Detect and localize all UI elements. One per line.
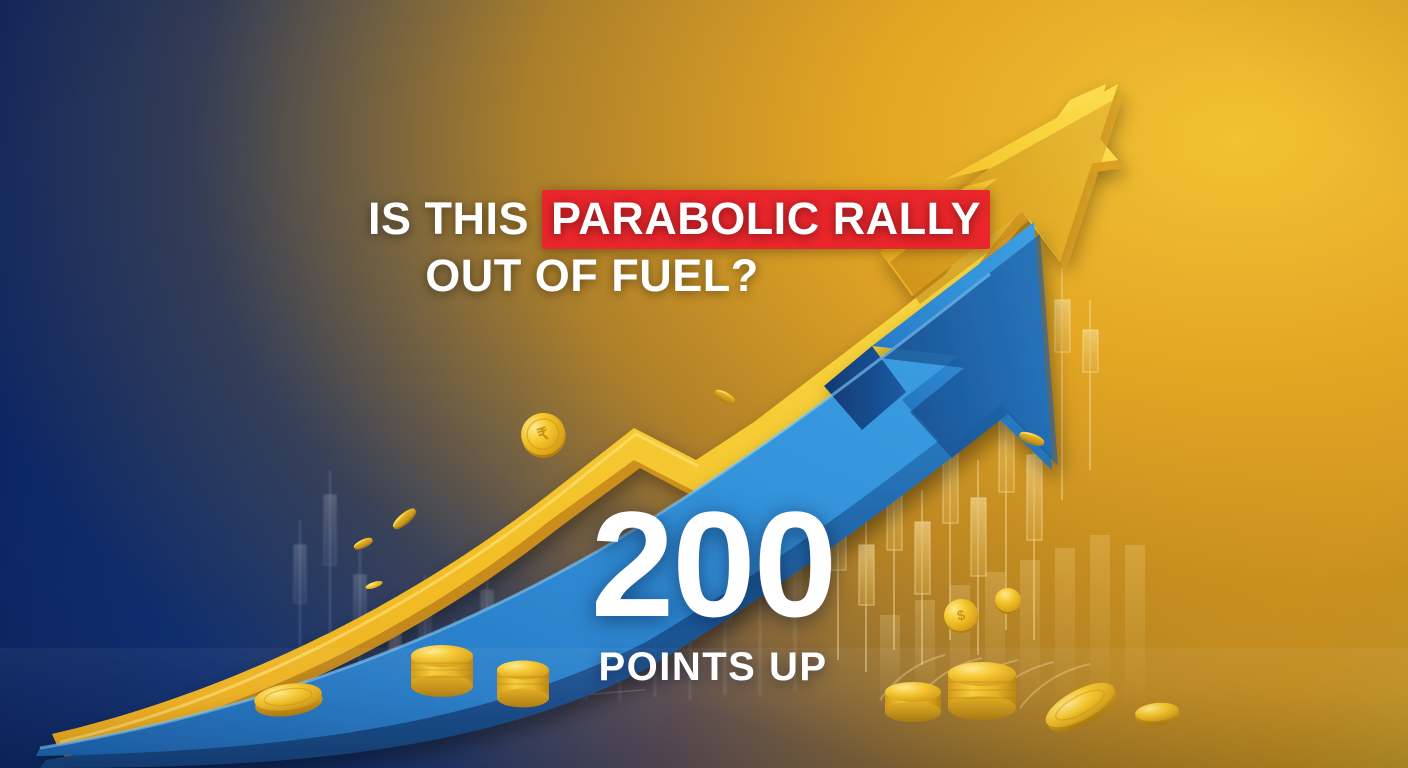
banner-canvas: ₹ $ <box>0 0 1408 768</box>
floor-reflection <box>0 648 1408 768</box>
